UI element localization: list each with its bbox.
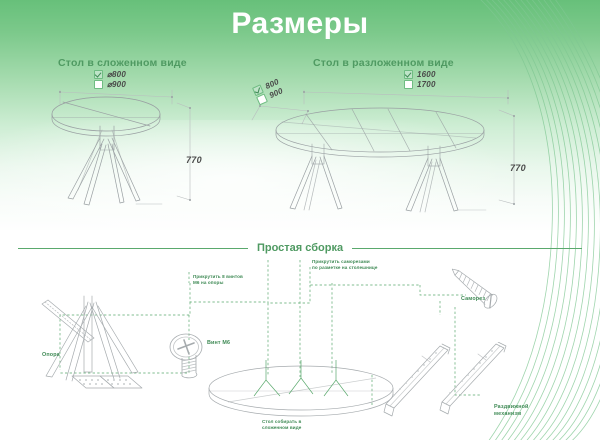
tabletop-assembly-drawing [206, 358, 396, 420]
part-label-self-tapping-screw: Саморез [461, 296, 485, 303]
part-label-sliding-mechanism: Раздвижной механизм [494, 404, 529, 419]
section-heading-folded: Стол в сложенном виде [58, 57, 187, 69]
folded-table-drawing [44, 86, 234, 211]
assembly-heading: Простая сборка [248, 242, 352, 254]
option-label: 1600 [417, 70, 436, 79]
part-label-bolt: Винт М6 [207, 340, 230, 347]
callout-screws-note: Прикрутить 8 винтов М6 на опоры [193, 274, 243, 286]
extended-height-value: 770 [510, 163, 526, 173]
divider-right [352, 248, 582, 249]
section-heading-extended: Стол в разложенном виде [313, 57, 454, 69]
option-length-1600[interactable]: 1600 [404, 70, 436, 79]
divider-left [18, 248, 248, 249]
poster-page: Размеры Стол в сложенном виде ⌀800 ⌀900 [0, 0, 600, 440]
option-diameter-800[interactable]: ⌀800 [94, 70, 126, 79]
extended-table-drawing [246, 82, 536, 214]
support-leg-drawing [22, 276, 172, 401]
folded-height-value: 770 [186, 155, 202, 165]
option-label: ⌀800 [107, 70, 126, 79]
checkbox-checked-icon[interactable] [404, 70, 413, 79]
checkbox-checked-icon[interactable] [94, 70, 103, 79]
part-label-support: Опора [42, 352, 60, 359]
assembly-section-header: Простая сборка [0, 240, 600, 256]
page-title: Размеры [0, 7, 600, 41]
self-tapping-screw-drawing [441, 266, 511, 312]
callout-selftapping-note: Прикрутить саморезами по разметке на сто… [312, 259, 377, 271]
tabletop-assembly-note: Стол собирать в сложенном виде [262, 419, 301, 431]
